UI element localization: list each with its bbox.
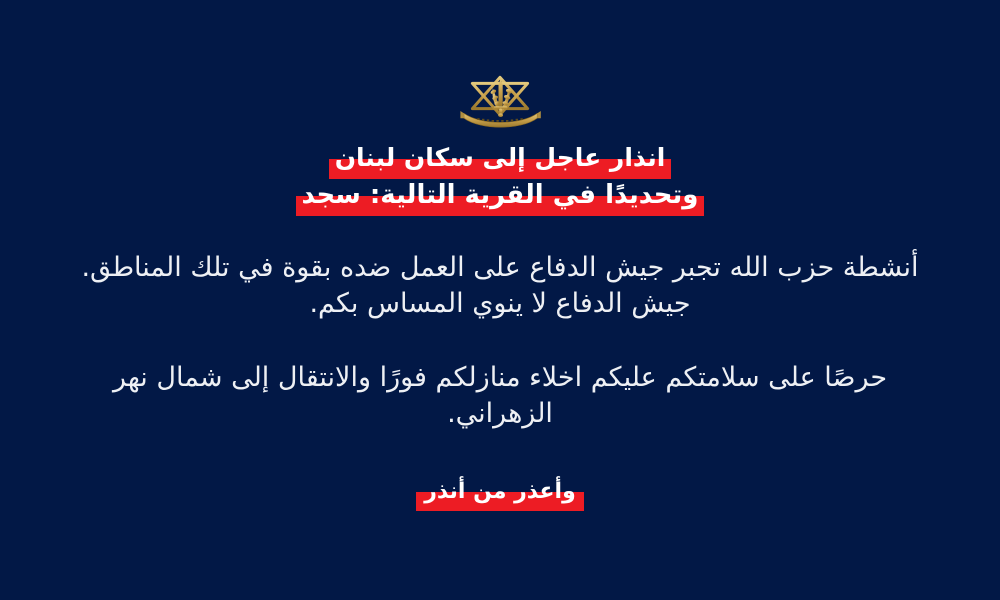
headline-line-1: انذار عاجل إلى سكان لبنان — [0, 142, 1000, 174]
emblem-container — [0, 68, 1000, 130]
headline-line-2: وتحديدًا في القرية التالية: سجد — [0, 179, 1000, 212]
headline-line-2-text: وتحديدًا في القرية التالية: سجد — [296, 179, 705, 212]
headline-line-1-text: انذار عاجل إلى سكان لبنان — [329, 142, 672, 174]
body-paragraph-1: أنشطة حزب الله تجبر جيش الدفاع على العمل… — [80, 250, 920, 322]
headline: انذار عاجل إلى سكان لبنان وتحديدًا في ال… — [0, 142, 1000, 212]
body-paragraph-2-container: حرصًا على سلامتكم عليكم اخلاء منازلكم فو… — [80, 360, 920, 432]
body-paragraph-2: حرصًا على سلامتكم عليكم اخلاء منازلكم فو… — [80, 360, 920, 432]
footer-tagline-container: وأعذر من أنذر — [0, 478, 1000, 507]
idf-emblem-icon — [452, 69, 548, 129]
warning-poster: انذار عاجل إلى سكان لبنان وتحديدًا في ال… — [0, 0, 1000, 600]
body-paragraph-1-container: أنشطة حزب الله تجبر جيش الدفاع على العمل… — [80, 250, 920, 322]
footer-tagline: وأعذر من أنذر — [416, 478, 584, 507]
